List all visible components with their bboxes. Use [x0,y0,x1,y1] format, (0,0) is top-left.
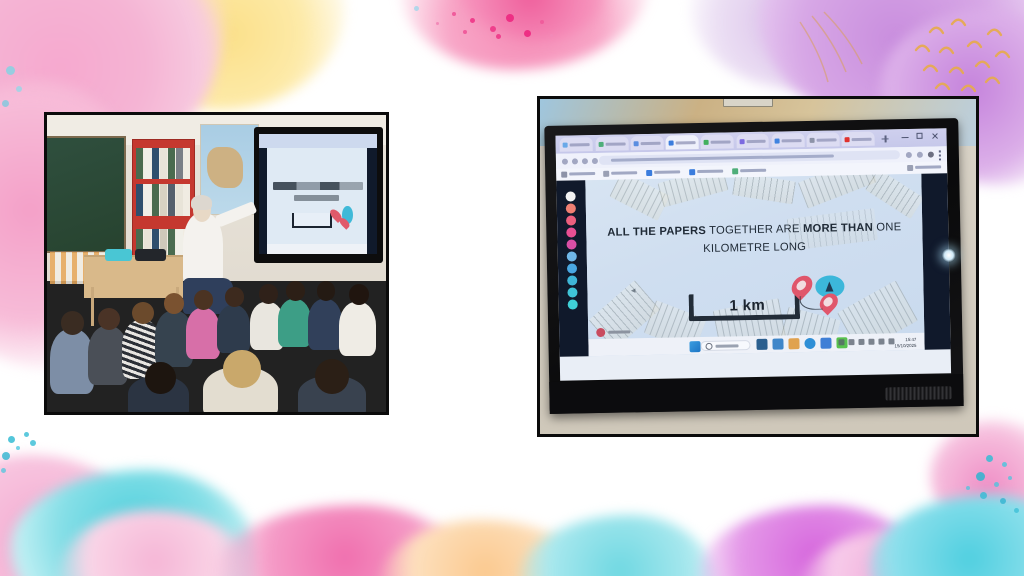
color-swatch[interactable] [566,216,576,226]
watercolor-blob-top-center-pink [400,0,650,70]
accent-dot [986,455,993,462]
accent-speckle [436,22,439,25]
tab-title [746,140,766,143]
taskbar-clock[interactable]: 15:47 15/10/2025 [894,337,916,350]
taskbar-app-icon[interactable] [772,339,783,350]
chalkboard [44,136,126,253]
slide-pane-left-mini [259,148,267,254]
color-swatch-strip[interactable] [561,192,581,310]
tape-measure-graphic [731,174,794,204]
accent-speckle [540,20,544,24]
browser-tab[interactable] [559,138,592,152]
tab-title [605,143,625,146]
home-icon[interactable] [591,159,597,165]
watercolor-blob-top-right-pink [710,0,880,25]
bookmark-label [653,171,679,174]
browser-chrome-mini [259,134,378,148]
reading-list-button[interactable] [907,164,941,171]
search-placeholder [716,345,739,348]
teacher-body [183,213,224,287]
windows-taskbar[interactable]: 15:47 15/10/2025 [588,333,925,357]
tape-measure-graphic [657,174,728,208]
table-leg [91,287,94,326]
tab-title [851,138,871,141]
watercolor-blob-bottom-right-magenta [700,505,930,576]
interactive-whiteboard [254,127,383,264]
child-head-foreground [315,359,349,395]
tray-network-icon[interactable] [858,339,864,345]
watercolor-blob-top-right-lavender [690,0,880,90]
presentation-slide[interactable]: ALL THE PAPERS TOGETHER ARE MORE THAN ON… [585,174,925,357]
tab-favicon [809,138,814,143]
browser-menu-icon[interactable] [938,151,940,161]
color-swatch[interactable] [566,252,576,262]
watercolor-blob-top-center-hotpink [455,0,605,40]
headline-bold-1: ALL THE PAPERS [607,226,706,240]
accent-dot [2,100,9,107]
color-swatch[interactable] [567,264,577,274]
child-seated [186,308,220,358]
child-head [286,281,305,300]
slide-logo [596,328,630,338]
bookmark-item[interactable] [732,168,766,175]
taskbar-mini [267,244,367,254]
bookmark-label [610,172,636,175]
wall-sensor-label [723,96,773,107]
route-squiggle [799,296,822,310]
watercolor-blob-bottom-center-orange [380,520,590,576]
distance-label: 1 km [700,296,793,315]
slide-canvas: ALL THE PAPERS TOGETHER ARE MORE THAN ON… [0,0,1024,576]
taskbar-app-icon[interactable] [820,338,831,349]
taskbar-app-icon[interactable] [788,338,799,349]
watercolor-blob-bottom-center-pink [215,505,475,576]
km-bracket-mini [292,213,332,228]
browser-tab[interactable] [595,137,628,151]
watercolor-blob-top-left-yellow [115,0,345,110]
interactive-whiteboard: ALL THE PAPERS TOGETHER ARE MORE THAN ON… [544,118,964,414]
tab-title [816,138,836,141]
bookmark-icon [645,170,651,176]
slide-subline-mini [294,195,339,201]
headline-plain-2: ONE [872,222,901,235]
accent-dot [980,492,987,499]
headline-line-2: KILOMETRE LONG [703,241,806,255]
accent-dot [976,472,985,481]
color-swatch[interactable] [567,288,577,298]
tab-title [570,143,590,146]
tab-title [710,140,730,143]
slide-pane-right-mini [367,148,378,254]
accent-dot [966,486,970,490]
watercolor-blob-bottom-center-teal [520,515,720,576]
distance-graphic: 1 km [687,276,843,328]
accent-speckle [470,18,475,23]
accent-speckle [490,26,496,32]
photo-classroom-wide [44,112,389,415]
bookmark-icon [732,169,738,175]
reading-list-label [915,166,941,169]
tab-favicon [633,141,638,146]
accent-dot [994,482,999,487]
tray-volume-icon[interactable] [878,339,884,345]
forward-icon[interactable] [572,159,578,165]
accent-speckle [506,14,514,22]
whiteboard-screen [259,134,378,254]
child-seated [278,299,312,347]
profile-avatar[interactable] [927,152,933,158]
search-icon [705,343,712,350]
bookmark-icon [561,172,567,178]
child-head [349,284,369,305]
child-head [164,293,184,314]
navigation-arrow-icon [825,282,833,292]
back-icon[interactable] [561,159,567,165]
headline-plain-1: TOGETHER ARE [705,224,802,238]
watercolor-blob-top-left-peach [35,0,225,105]
shelf-row [136,184,190,215]
browser-tab[interactable] [736,134,769,148]
tray-input-icon[interactable] [888,339,894,345]
accent-dot [2,452,10,460]
start-button-icon[interactable] [689,341,700,352]
taskbar-app-icon[interactable] [804,338,815,349]
accent-dot [24,432,29,437]
tab-title [781,139,801,142]
watercolor-blob-bottom-left-pink [0,455,150,576]
child-head [317,281,336,300]
watercolor-blob-bottom-left-pink2 [60,510,250,576]
tab-favicon [774,139,779,144]
child-head-foreground [145,362,176,395]
tray-chevron-icon[interactable] [838,340,844,346]
accent-dot [16,86,22,92]
bookmark-item[interactable] [561,171,595,178]
child-seated [217,305,251,353]
reload-icon[interactable] [582,159,588,165]
photo-smartboard-closeup: ALL THE PAPERS TOGETHER ARE MORE THAN ON… [537,96,979,437]
tab-favicon [703,140,708,145]
maximize-button[interactable] [916,133,923,140]
child-seated [308,299,342,349]
color-swatch[interactable] [566,228,576,238]
tab-favicon [563,143,568,148]
tab-title [675,141,695,144]
slide-headline: ALL THE PAPERS TOGETHER ARE MORE THAN ON… [602,220,906,261]
color-swatch[interactable] [566,240,576,250]
taskbar-app-icon[interactable] [756,339,767,350]
child-head [259,284,278,303]
accent-speckle [524,30,531,37]
watercolor-blob-bottom-right-pinkwash [800,530,1000,576]
accent-dot [16,446,20,450]
child-head-foreground [223,350,260,389]
browser-tab[interactable] [806,133,839,147]
teacher-hair [191,195,212,210]
color-swatch[interactable] [565,192,575,202]
bookmark-label [740,170,766,173]
tab-title [640,142,660,145]
browser-tab[interactable] [630,137,663,151]
accent-dot [1008,476,1012,480]
tape-measure-graphic [608,174,669,222]
close-button[interactable] [931,133,938,140]
teal-object-on-table [105,249,132,261]
new-tab-button[interactable] [881,136,888,143]
browser-tab-active[interactable] [665,136,698,150]
color-swatch[interactable] [567,276,577,286]
tape-measure-graphic [797,174,876,209]
bookmark-star-icon[interactable] [905,153,911,159]
bookmark-item[interactable] [645,169,679,176]
accent-speckle [463,30,467,34]
child-head [225,287,244,306]
bookmark-item[interactable] [602,170,636,177]
tab-favicon [739,139,744,144]
slide-headline-mini [273,182,363,190]
child-head [132,302,154,324]
tab-favicon [668,141,673,146]
accent-dot [30,440,36,446]
accent-dot [1014,508,1019,513]
accent-speckle [496,34,501,39]
accent-speckle [414,6,419,11]
system-tray[interactable] [838,339,894,346]
logo-text [608,331,630,334]
accent-dot [1002,462,1007,467]
accent-dot [1000,498,1006,504]
reading-list-icon [907,165,913,171]
color-swatch[interactable] [566,204,576,214]
whiteboard-power-led [941,248,955,262]
child-seated [339,302,376,355]
bookmark-label [569,173,595,176]
bookmark-icon [689,170,695,176]
accent-dot [1,468,6,473]
tab-favicon [844,137,849,142]
tray-wifi-icon[interactable] [868,339,874,345]
headline-bold-2: MORE THAN [802,223,872,236]
child-head [194,290,213,309]
accent-dot [6,66,15,75]
child-head [61,311,85,335]
tab-favicon [598,142,603,147]
browser-tab[interactable] [700,135,733,149]
address-text [610,155,833,162]
classroom-table [84,255,182,299]
accent-speckle [452,12,456,16]
logo-mark-icon [596,329,605,338]
watercolor-blob-bottom-right-cyan [870,495,1024,576]
taskbar-search-box[interactable] [700,341,750,352]
bookmark-icon [602,171,608,177]
whiteboard-screen: ALL THE PAPERS TOGETHER ARE MORE THAN ON… [555,128,951,380]
bookmark-label [697,170,723,173]
bookmark-item[interactable] [688,169,722,176]
extensions-icon[interactable] [917,152,923,158]
accent-dot [8,436,15,443]
minimize-button[interactable] [901,133,908,140]
whiteboard-brand-strip [884,387,951,401]
browser-tab[interactable] [841,132,874,146]
watercolor-blob-bottom-left-teal [10,470,260,576]
accent-speckle [550,34,553,37]
browser-tab[interactable] [771,134,804,148]
clock-date: 15/10/2025 [894,343,916,350]
black-case-on-table [135,249,166,261]
color-swatch[interactable] [567,300,577,310]
shelf-row [136,148,190,179]
tray-battery-icon[interactable] [848,339,854,345]
child-head [98,308,120,330]
taskbar-pinned-apps[interactable] [756,338,847,350]
